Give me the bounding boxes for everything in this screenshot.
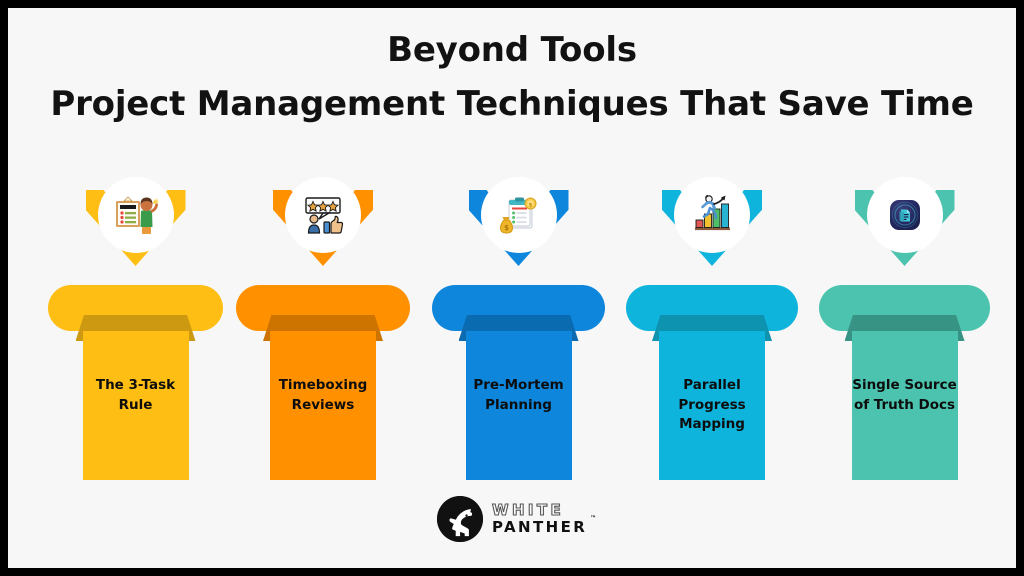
logo-word-white: WHITE — [492, 502, 587, 519]
trademark-symbol: ™ — [590, 516, 596, 523]
pillar-label-4-line-1: Parallel — [659, 376, 765, 396]
panther-head-icon — [437, 496, 483, 542]
pillar-5: Single Source of Truth Docs — [819, 8, 990, 568]
pillar-label-1: The 3-Task Rule — [83, 376, 189, 415]
logo-wordmark: WHITE PANTHER ™ — [492, 502, 587, 537]
icon-circle-2 — [285, 177, 361, 253]
svg-text:$: $ — [504, 224, 509, 232]
icon-circle-4 — [674, 177, 750, 253]
rules-checklist-person-icon — [110, 189, 162, 241]
logo-word-panther-text: PANTHER — [492, 518, 587, 536]
pillar-1: The 3-Task Rule — [48, 8, 223, 568]
star-rating-thumbs-up-icon — [297, 189, 349, 241]
pillar-label-5-line-1: Single Source — [852, 376, 958, 396]
clipboard-money-bag-icon: $ $ — [493, 189, 545, 241]
document-app-tile-icon — [879, 189, 931, 241]
pillar-label-5: Single Source of Truth Docs — [852, 376, 958, 415]
brand-logo: WHITE PANTHER ™ — [437, 492, 587, 546]
pillar-label-4: Parallel Progress Mapping — [659, 376, 765, 435]
pillar-label-4-line-3: Mapping — [659, 415, 765, 435]
pillar-2: Timeboxing Reviews — [236, 8, 410, 568]
pillar-label-2: Timeboxing Reviews — [270, 376, 376, 415]
icon-circle-5 — [867, 177, 943, 253]
pillar-4: Parallel Progress Mapping — [626, 8, 798, 568]
pillar-label-2-line-1: Timeboxing — [270, 376, 376, 396]
pillar-label-3: Pre-Mortem Planning — [466, 376, 572, 415]
svg-text:$: $ — [528, 202, 532, 208]
pillar-label-5-line-2: of Truth Docs — [852, 396, 958, 416]
runner-bar-chart-growth-icon — [686, 189, 738, 241]
infographic-canvas: Beyond Tools Project Management Techniqu… — [8, 8, 1016, 568]
logo-word-panther: PANTHER ™ — [492, 519, 587, 536]
icon-circle-3: $ $ — [481, 177, 557, 253]
pillar-3: $ $ Pre-Mortem Planning — [432, 8, 605, 568]
pillar-label-4-line-2: Progress — [659, 396, 765, 416]
pillar-label-2-line-2: Reviews — [270, 396, 376, 416]
pillar-label-1-line-2: Rule — [83, 396, 189, 416]
pillar-label-1-line-1: The 3-Task — [83, 376, 189, 396]
pillar-label-3-line-2: Planning — [466, 396, 572, 416]
icon-circle-1 — [98, 177, 174, 253]
pillar-label-3-line-1: Pre-Mortem — [466, 376, 572, 396]
